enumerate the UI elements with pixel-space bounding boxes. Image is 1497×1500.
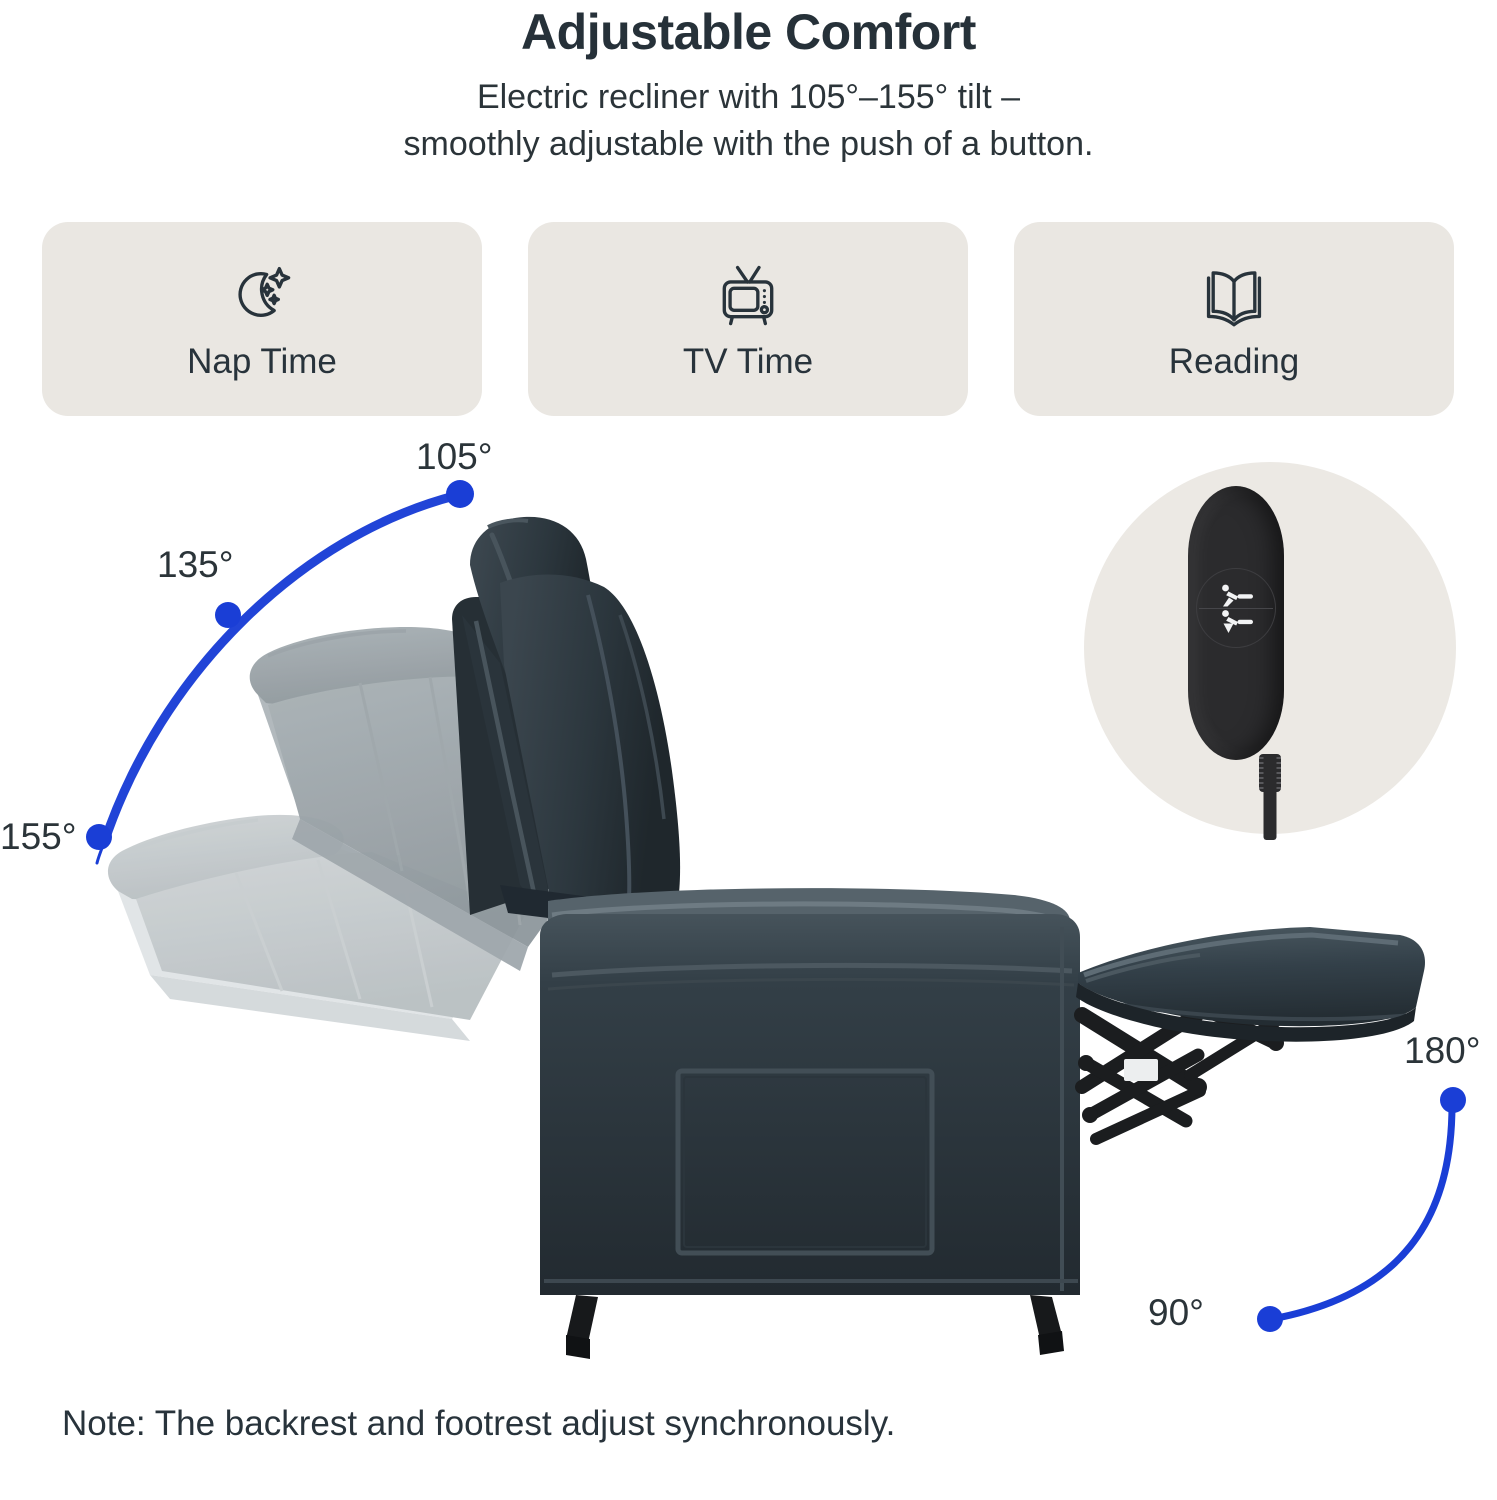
angle-dot-155 [86, 824, 112, 850]
feature-card-tv-time[interactable]: TV Time [528, 222, 968, 416]
angle-dot-105 [446, 480, 474, 508]
angle-label-90: 90° [1148, 1294, 1204, 1331]
angle-label-135: 135° [157, 546, 234, 583]
recline-down-icon[interactable] [1197, 609, 1275, 635]
retro-tv-icon [711, 260, 785, 334]
footrest-pad-extended [1076, 927, 1425, 1042]
chair-backrest [452, 517, 686, 935]
chair-seat-body [540, 888, 1080, 1359]
recline-up-icon[interactable] [1197, 583, 1275, 609]
header: Adjustable Comfort Electric recliner wit… [0, 0, 1497, 168]
angle-label-155: 155° [0, 818, 77, 855]
open-book-icon [1197, 260, 1271, 334]
feature-card-label: Nap Time [187, 344, 337, 379]
angle-label-180: 180° [1404, 1032, 1481, 1069]
feature-card-label: TV Time [683, 344, 813, 379]
feature-card-nap-time[interactable]: Nap Time [42, 222, 482, 416]
recline-button-pad[interactable] [1196, 568, 1276, 648]
subtitle-line-1: Electric recliner with 105°–155° tilt – [299, 74, 1199, 121]
remote-body[interactable] [1188, 486, 1284, 760]
power-cord [1264, 754, 1277, 840]
angle-dot-180 [1440, 1087, 1466, 1113]
angle-label-105: 105° [416, 438, 493, 475]
angle-dot-135 [215, 602, 241, 628]
remote-control-inset [1084, 462, 1456, 834]
page-title: Adjustable Comfort [0, 4, 1497, 60]
moon-stars-icon [225, 260, 299, 334]
footrest-angle-arc [1257, 1087, 1466, 1332]
note-text: Note: The backrest and footrest adjust s… [62, 1400, 922, 1448]
feature-card-reading[interactable]: Reading [1014, 222, 1454, 416]
feature-card-row: Nap Time TV Time [42, 222, 1454, 416]
subtitle-line-2: smoothly adjustable with the push of a b… [299, 121, 1199, 168]
page-subtitle: Electric recliner with 105°–155° tilt – … [299, 74, 1199, 168]
angle-dot-90 [1257, 1306, 1283, 1332]
feature-card-label: Reading [1169, 344, 1299, 379]
